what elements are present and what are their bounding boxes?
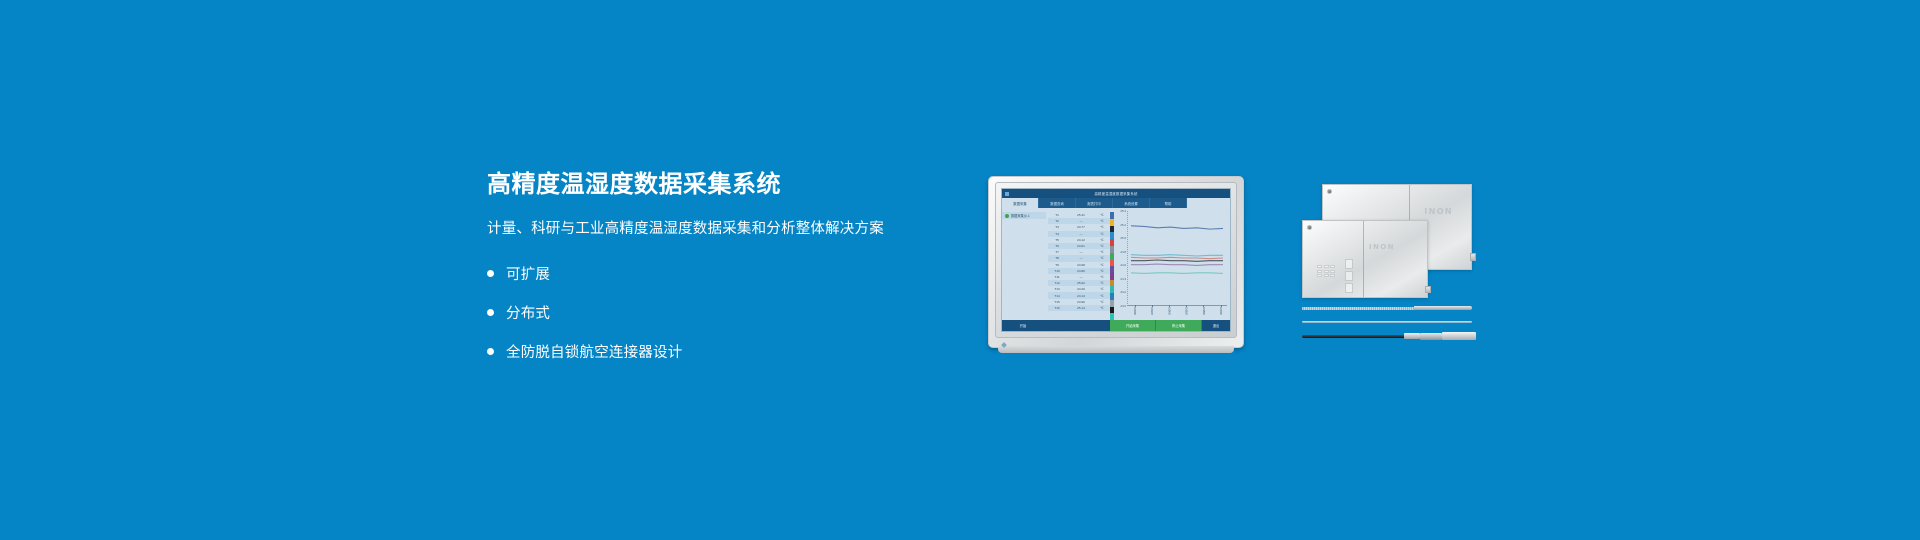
cell-unit: ℃ xyxy=(1096,225,1108,229)
feature-list: 可扩展 分布式 全防脱自锁航空连接器设计 xyxy=(487,238,957,364)
monitor-product-image: 高精度温湿度数据采集系统 数据采集 数据查询 报表打印 系统设置 帮助 数据采集… xyxy=(988,176,1244,348)
cell-value: 24.61 xyxy=(1066,244,1096,248)
cell-channel: T4 xyxy=(1048,232,1066,236)
cell-channel: T7 xyxy=(1048,250,1066,254)
cell-unit: ℃ xyxy=(1096,232,1108,236)
chart-x-tick: 10:24:00 xyxy=(1167,307,1170,315)
tab-help[interactable]: 帮助 xyxy=(1150,198,1187,208)
probe-cable xyxy=(1302,335,1408,338)
chart-x-axis: 10:20:0010:22:0010:24:0010:26:0010:28:00… xyxy=(1127,306,1227,318)
chart-y-tick: 25.2 xyxy=(1120,223,1126,227)
cell-unit: ℃ xyxy=(1096,219,1108,223)
rigid-temperature-probe xyxy=(1302,306,1472,310)
bullet-dot-icon xyxy=(487,309,494,316)
panel-seam xyxy=(1363,221,1364,297)
hardware-product-images: INON INON xyxy=(1298,178,1478,348)
connector-port xyxy=(1470,253,1476,261)
channel-color-swatch xyxy=(1110,232,1114,239)
cell-channel: T3 xyxy=(1048,225,1066,229)
cell-unit: ℃ xyxy=(1096,238,1108,242)
chart-x-tick: 10:30:00 xyxy=(1219,307,1222,315)
screw-icon xyxy=(1327,189,1332,194)
app-footer-bar: 开始 开始采集 停止采集 退出 xyxy=(1002,320,1230,331)
chart-series-line xyxy=(1131,211,1223,305)
chart-y-tick: 24.6 xyxy=(1120,263,1126,267)
cell-unit: ℃ xyxy=(1096,281,1108,285)
cell-channel: T15 xyxy=(1048,300,1066,304)
list-item: 全防脱自锁航空连接器设计 xyxy=(487,338,957,364)
cell-channel: T12 xyxy=(1048,281,1066,285)
product-banner: 高精度温湿度数据采集系统 计量、科研与工业高精度温湿度数据采集和分析整体解决方案… xyxy=(0,0,1920,540)
port-icon xyxy=(1345,271,1353,281)
cell-unit: ℃ xyxy=(1096,263,1108,267)
channel-color-swatch xyxy=(1110,307,1114,314)
chart-y-tick: 25.4 xyxy=(1120,209,1126,213)
app-title-bar: 高精度温湿度数据采集系统 xyxy=(1002,189,1230,198)
probe-body xyxy=(1420,333,1442,340)
cell-channel: T13 xyxy=(1048,287,1066,291)
cell-channel: T11 xyxy=(1048,275,1066,279)
cell-channel: T2 xyxy=(1048,219,1066,223)
device-tree-node[interactable]: 数据采集仪-1 xyxy=(1002,212,1046,219)
cell-value: --- xyxy=(1066,250,1096,254)
channel-color-legend xyxy=(1110,212,1114,320)
channel-color-swatch xyxy=(1110,313,1114,320)
cell-value: 25.02 xyxy=(1066,281,1096,285)
brand-logo: INON xyxy=(1424,207,1453,216)
app-main-body: 数据采集仪-1 T1 25.31 ℃ T2 --- ℃ xyxy=(1002,208,1230,320)
cell-unit: ℃ xyxy=(1096,294,1108,298)
cell-channel: T14 xyxy=(1048,294,1066,298)
cell-unit: ℃ xyxy=(1096,213,1108,217)
cell-channel: T10 xyxy=(1048,269,1066,273)
chart-x-tick: 10:20:00 xyxy=(1133,307,1136,315)
flexible-cable-probe xyxy=(1302,320,1472,323)
cell-value: --- xyxy=(1066,232,1096,236)
chart-y-tick: 24.8 xyxy=(1120,250,1126,254)
monitor-screen: 高精度温湿度数据采集系统 数据采集 数据查询 报表打印 系统设置 帮助 数据采集… xyxy=(1001,188,1231,332)
trend-chart: 25.425.225.024.824.624.424.224.0 10:20:0… xyxy=(1116,211,1227,318)
cell-unit: ℃ xyxy=(1096,287,1108,291)
channel-color-swatch xyxy=(1110,219,1114,226)
status-online-icon xyxy=(1005,214,1009,218)
cell-unit: ℃ xyxy=(1096,275,1108,279)
tab-report-print[interactable]: 报表打印 xyxy=(1076,198,1113,208)
channel-color-swatch xyxy=(1110,239,1114,246)
chart-y-tick: 25.0 xyxy=(1120,236,1126,240)
channel-color-swatch xyxy=(1110,253,1114,260)
channel-readings-table: T1 25.31 ℃ T2 --- ℃ T3 24.77 ℃ xyxy=(1048,208,1110,320)
cell-channel: T5 xyxy=(1048,238,1066,242)
cell-unit: ℃ xyxy=(1096,250,1108,254)
footer-spacer xyxy=(1044,320,1110,331)
cell-value: 24.14 xyxy=(1066,294,1096,298)
cell-unit: ℃ xyxy=(1096,256,1108,260)
channel-color-swatch xyxy=(1110,280,1114,287)
cell-channel: T9 xyxy=(1048,263,1066,267)
cell-unit: ℃ xyxy=(1096,244,1108,248)
device-tree-label: 数据采集仪-1 xyxy=(1011,213,1030,218)
cell-unit: ℃ xyxy=(1096,269,1108,273)
cell-channel: T8 xyxy=(1048,256,1066,260)
chart-x-tick: 10:26:00 xyxy=(1185,307,1188,315)
connector-port xyxy=(1425,286,1431,293)
cell-value: 24.29 xyxy=(1066,287,1096,291)
probe-shaft xyxy=(1302,307,1418,310)
probe-ferrule xyxy=(1404,333,1420,339)
page-title: 高精度温湿度数据采集系统 xyxy=(487,172,957,198)
app-tab-bar: 数据采集 数据查询 报表打印 系统设置 帮助 xyxy=(1002,198,1230,208)
bullet-dot-icon xyxy=(487,348,494,355)
list-item: 可扩展 xyxy=(487,260,957,286)
chart-y-tick: 24.4 xyxy=(1120,277,1126,281)
cell-value: --- xyxy=(1066,275,1096,279)
page-subtitle: 计量、科研与工业高精度温湿度数据采集和分析整体解决方案 xyxy=(487,198,957,238)
port-icon xyxy=(1345,259,1353,269)
tab-data-acquisition[interactable]: 数据采集 xyxy=(1002,198,1039,208)
app-window-title: 高精度温湿度数据采集系统 xyxy=(1002,191,1230,196)
port-icon xyxy=(1345,283,1353,293)
feature-label: 可扩展 xyxy=(506,263,550,284)
channel-color-swatch xyxy=(1110,212,1114,219)
list-item: 分布式 xyxy=(487,299,957,325)
brand-logo: INON xyxy=(1369,243,1395,251)
start-button[interactable]: 开始 xyxy=(1002,320,1044,331)
bullet-dot-icon xyxy=(487,270,494,277)
channel-color-swatch xyxy=(1110,266,1114,273)
chart-plot-area xyxy=(1127,211,1227,306)
cell-value: --- xyxy=(1066,219,1096,223)
channel-color-swatch xyxy=(1110,226,1114,233)
tab-system-settings[interactable]: 系统设置 xyxy=(1113,198,1150,208)
stop-acquisition-button[interactable]: 停止采集 xyxy=(1156,320,1202,331)
feature-label: 全防脱自锁航空连接器设计 xyxy=(506,341,682,362)
chart-x-tick: 10:22:00 xyxy=(1150,307,1153,315)
monitor-stand xyxy=(998,346,1234,353)
cell-value: 24.12 xyxy=(1066,238,1096,242)
exit-button[interactable]: 退出 xyxy=(1202,320,1230,331)
banner-text-block: 高精度温湿度数据采集系统 计量、科研与工业高精度温湿度数据采集和分析整体解决方案… xyxy=(487,172,957,364)
screw-icon xyxy=(1307,225,1312,230)
channel-color-swatch xyxy=(1110,293,1114,300)
cell-value: 24.98 xyxy=(1066,263,1096,267)
tab-bar-filler xyxy=(1187,198,1230,208)
probe-cable xyxy=(1302,321,1472,323)
cell-unit: ℃ xyxy=(1096,300,1108,304)
start-acquisition-button[interactable]: 开始采集 xyxy=(1110,320,1156,331)
channel-color-swatch xyxy=(1110,259,1114,266)
keypad-icon xyxy=(1317,265,1335,277)
cell-value: 25.14 xyxy=(1066,306,1096,310)
cell-value: 24.86 xyxy=(1066,269,1096,273)
channel-color-swatch xyxy=(1110,300,1114,307)
chart-y-tick: 24.0 xyxy=(1120,304,1126,308)
tab-data-query[interactable]: 数据查询 xyxy=(1039,198,1076,208)
probe-head xyxy=(1442,332,1476,340)
table-row: T16 25.14 ℃ xyxy=(1048,305,1110,311)
cell-channel: T6 xyxy=(1048,244,1066,248)
cell-channel: T16 xyxy=(1048,306,1066,310)
probe-tip xyxy=(1414,306,1472,310)
humidity-probe-assembly xyxy=(1302,332,1472,340)
cell-value: 24.90 xyxy=(1066,300,1096,304)
cell-unit: ℃ xyxy=(1096,306,1108,310)
device-tree-panel: 数据采集仪-1 xyxy=(1002,208,1048,320)
cell-value: 25.31 xyxy=(1066,213,1096,217)
cell-channel: T1 xyxy=(1048,213,1066,217)
channel-color-swatch xyxy=(1110,286,1114,293)
cell-value: 24.77 xyxy=(1066,225,1096,229)
chart-x-tick: 10:28:00 xyxy=(1202,307,1205,315)
feature-label: 分布式 xyxy=(506,302,550,323)
channel-color-swatch xyxy=(1110,273,1114,280)
acquisition-unit-front: INON xyxy=(1302,220,1428,298)
channel-color-swatch xyxy=(1110,246,1114,253)
cell-value: --- xyxy=(1066,256,1096,260)
chart-y-tick: 24.2 xyxy=(1120,290,1126,294)
